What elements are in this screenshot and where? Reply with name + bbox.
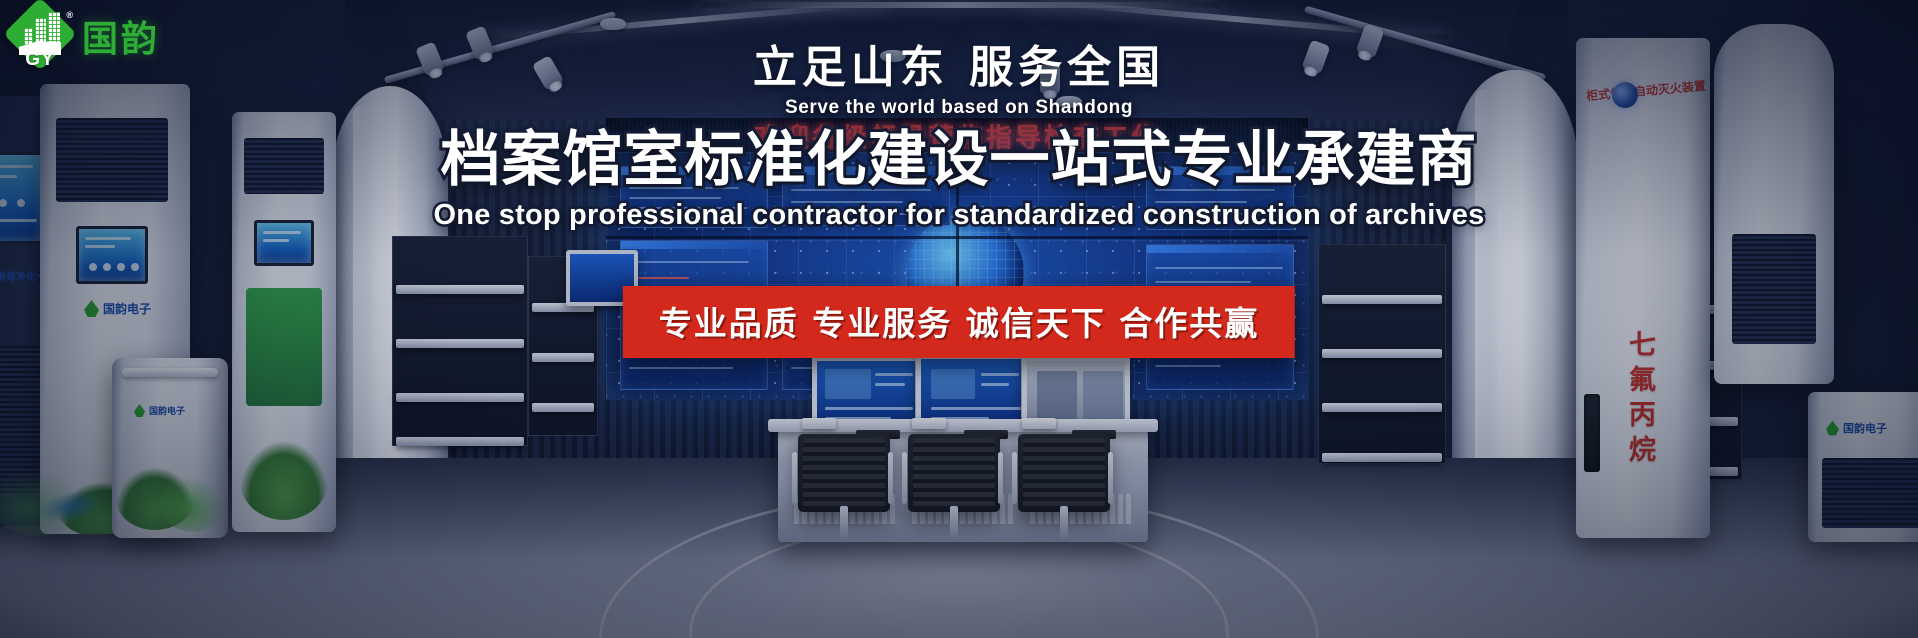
desk-phone [912, 418, 946, 429]
company-logo[interactable]: GY ® 国韵 [8, 4, 160, 68]
chair-arm [902, 452, 907, 504]
dehumidifier-unit: 国韵电子 [112, 358, 228, 538]
chair-arm [998, 452, 1003, 504]
leaf-icon [1826, 421, 1839, 436]
leaf-icon [134, 404, 145, 417]
chair-arm [888, 452, 893, 504]
headline-block: 档案馆室标准化建设一站式专业承建商 One stop professional … [0, 127, 1918, 232]
brand-badge-dehumidifier: 国韵电子 [134, 404, 185, 417]
chair-arm [1012, 452, 1017, 504]
chair-arm [792, 452, 797, 504]
brand-label: 国韵电子 [1843, 420, 1887, 436]
brand-label: 国韵电子 [103, 300, 151, 317]
tagline-english: Serve the world based on Shandong [0, 97, 1918, 119]
headline-chinese: 档案馆室标准化建设一站式专业承建商 [0, 127, 1918, 194]
archive-shelf-right [1318, 244, 1446, 464]
chair-post [950, 506, 958, 538]
vent-grille [1732, 234, 1816, 344]
cart-handle[interactable] [122, 368, 218, 377]
appliance-right-lower: 国韵电子 [1808, 392, 1918, 542]
chair-post [1060, 506, 1068, 538]
ceiling-light-strip [700, 2, 1220, 8]
cabinet-vertical-label: 七氟丙烷 [1620, 330, 1659, 470]
cta-banner[interactable]: 专业品质 专业服务 诚信天下 合作共赢 [623, 286, 1295, 358]
office-chair [1018, 434, 1110, 512]
brand-badge-right-unit: 国韵电子 [1826, 420, 1887, 436]
tagline-block: 立足山东 服务全国 Serve the world based on Shand… [0, 44, 1918, 119]
headline-english: One stop professional contractor for sta… [0, 199, 1918, 232]
chair-arm [1108, 452, 1113, 504]
registered-trademark-icon: ® [66, 10, 73, 20]
building-icon [48, 12, 60, 46]
plant-graphic [160, 476, 226, 532]
logo-initials: GY [8, 49, 72, 71]
purifier-touch-panel[interactable] [76, 226, 148, 284]
smoke-detector [600, 18, 626, 30]
office-chair [908, 434, 1000, 512]
tagline-chinese: 立足山东 服务全国 [753, 44, 1165, 92]
archive-shelf-left [392, 236, 528, 446]
chair-post [840, 506, 848, 538]
vent-grille [1822, 458, 1918, 528]
logo-company-name: 国韵 [82, 10, 160, 62]
brand-label: 国韵电子 [149, 404, 185, 417]
desk-phone [802, 418, 836, 429]
promo-banner: 欢迎各级领导菅临指导检查工作 [0, 0, 1918, 638]
brand-badge-left-unit: 国韵电子 [84, 300, 151, 317]
logo-mark-icon: GY ® [8, 4, 72, 68]
office-chair [798, 434, 890, 512]
green-status-panel [246, 288, 322, 406]
plant-graphic [240, 442, 328, 520]
leaf-icon [84, 300, 99, 317]
cta-text: 专业品质 专业服务 诚信天下 合作共赢 [659, 297, 1259, 345]
pressure-gauge-strip [1584, 394, 1600, 472]
desk-phone [1022, 418, 1056, 429]
